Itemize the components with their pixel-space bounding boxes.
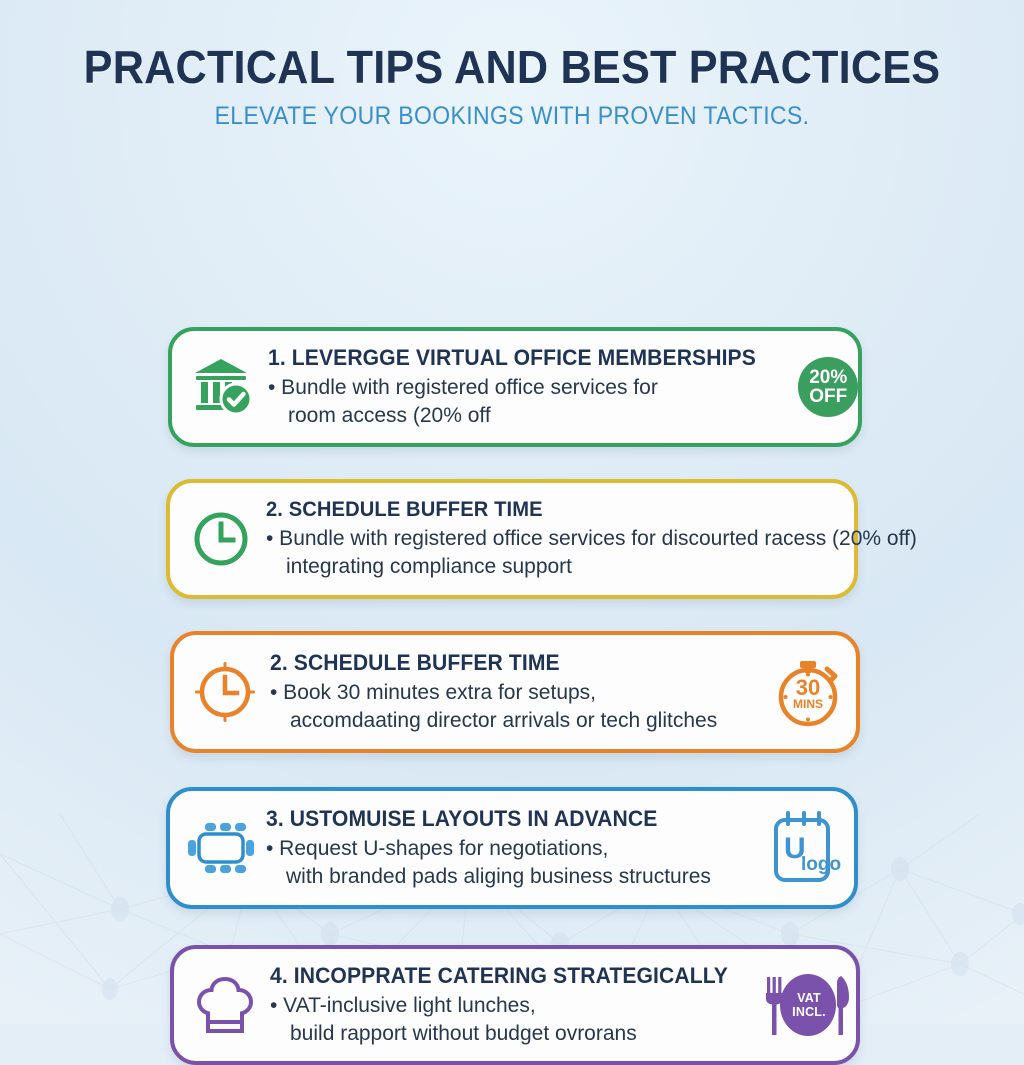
tip-card-3-line-2: accomdaating director arrivals or tech g… bbox=[270, 707, 756, 735]
page-title: PRACTICAL TIPS AND BEST PRACTICES bbox=[31, 40, 994, 94]
tip-card-5-body: 4. INCOPPRATE CATERING STRATEGICALLY • V… bbox=[268, 963, 760, 1048]
stopwatch-badge-text: 30 MINS bbox=[772, 677, 844, 710]
tip-card-4-body: 3. USTOMUISE LAYOUTS IN ADVANCE • Reques… bbox=[264, 806, 758, 891]
discount-badge-line-2: OFF bbox=[809, 387, 847, 406]
clock-icon bbox=[182, 661, 268, 723]
tip-card-2-line-2: integrating compliance support bbox=[266, 553, 917, 581]
vat-included-badge-label: VAT INCL. bbox=[779, 991, 839, 1019]
tip-card-1-badge-slot: 20% OFF bbox=[780, 357, 876, 417]
tip-card-2-title: 2. SCHEDULE BUFFER TIME bbox=[266, 498, 891, 522]
infographic-page: PRACTICAL TIPS AND BEST PRACTICES ELEVAT… bbox=[0, 0, 1024, 1024]
bank-check-icon bbox=[180, 357, 266, 417]
stopwatch-badge: 30 MINS bbox=[772, 655, 844, 729]
tip-card-2[interactable]: 2. SCHEDULE BUFFER TIME • Bundle with re… bbox=[166, 479, 858, 599]
tip-card-3-lines: • Book 30 minutes extra for setups, acco… bbox=[270, 679, 756, 735]
tip-card-3-body: 2. SCHEDULE BUFFER TIME • Book 30 minute… bbox=[268, 650, 760, 735]
tip-card-5-lines: • VAT-inclusive light lunches, build rap… bbox=[270, 992, 756, 1048]
tip-card-2-lines: • Bundle with registered office services… bbox=[266, 525, 917, 581]
clock-icon bbox=[178, 510, 264, 568]
page-subtitle: ELEVATE YOUR BOOKINGS WITH PROVEN TACTIC… bbox=[41, 102, 983, 131]
tip-card-4-badge-slot: U logo bbox=[758, 810, 854, 886]
tip-card-4[interactable]: 3. USTOMUISE LAYOUTS IN ADVANCE • Reques… bbox=[166, 787, 858, 909]
tip-card-5-line-1: • VAT-inclusive light lunches, bbox=[270, 992, 756, 1020]
u-logo-badge: U logo bbox=[767, 810, 845, 886]
conference-table-icon bbox=[178, 820, 264, 876]
discount-badge-line-1: 20% bbox=[809, 368, 847, 387]
header: PRACTICAL TIPS AND BEST PRACTICES ELEVAT… bbox=[0, 0, 1024, 131]
tip-card-1-body: 1. LEVERGGE VIRTUAL OFFICE MEMBERSHIPS •… bbox=[266, 345, 780, 430]
tip-card-4-line-1: • Request U-shapes for negotiations, bbox=[266, 835, 754, 863]
tip-card-4-lines: • Request U-shapes for negotiations, wit… bbox=[266, 835, 754, 891]
tip-card-4-line-2: with branded pads aliging business struc… bbox=[266, 863, 754, 891]
chef-hat-icon bbox=[182, 974, 268, 1036]
tip-card-1-lines: • Bundle with registered office services… bbox=[268, 374, 776, 430]
tip-card-2-line-1: • Bundle with registered office services… bbox=[266, 525, 917, 553]
stopwatch-badge-line-1: 30 bbox=[772, 677, 844, 698]
tip-card-1[interactable]: 1. LEVERGGE VIRTUAL OFFICE MEMBERSHIPS •… bbox=[168, 327, 862, 447]
tip-card-5[interactable]: 4. INCOPPRATE CATERING STRATEGICALLY • V… bbox=[170, 945, 860, 1065]
tip-card-1-title: 1. LEVERGGE VIRTUAL OFFICE MEMBERSHIPS bbox=[268, 345, 756, 371]
vat-included-badge: VAT INCL. bbox=[761, 969, 855, 1041]
tip-card-3-title: 2. SCHEDULE BUFFER TIME bbox=[270, 650, 737, 676]
stopwatch-badge-line-2: MINS bbox=[772, 698, 844, 710]
tip-card-3-badge-slot: 30 MINS bbox=[760, 655, 856, 729]
tip-card-2-body: 2. SCHEDULE BUFFER TIME • Bundle with re… bbox=[264, 498, 921, 581]
tip-card-3[interactable]: 2. SCHEDULE BUFFER TIME • Book 30 minute… bbox=[170, 631, 860, 753]
tip-card-5-title: 4. INCOPPRATE CATERING STRATEGICALLY bbox=[270, 963, 737, 989]
tip-card-5-badge-slot: VAT INCL. bbox=[760, 969, 856, 1041]
tip-card-1-line-1: • Bundle with registered office services… bbox=[268, 374, 776, 402]
tip-card-1-line-2: room access (20% off bbox=[268, 402, 776, 430]
tip-card-4-title: 3. USTOMUISE LAYOUTS IN ADVANCE bbox=[266, 806, 734, 832]
tip-card-3-line-1: • Book 30 minutes extra for setups, bbox=[270, 679, 756, 707]
u-logo-word: logo bbox=[801, 854, 841, 876]
discount-badge: 20% OFF bbox=[798, 357, 858, 417]
